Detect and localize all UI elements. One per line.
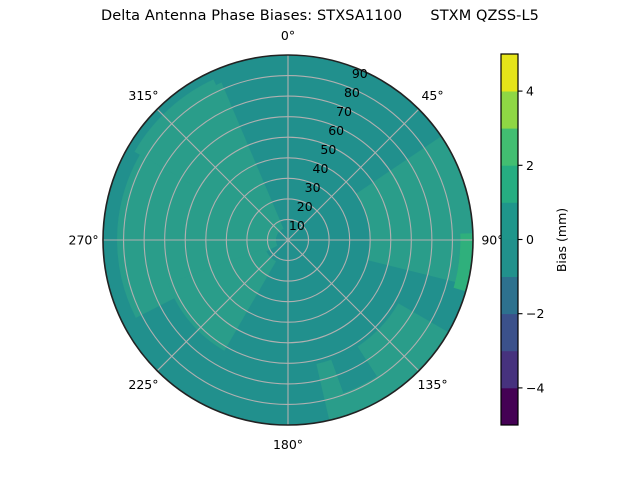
colorbar-band (501, 128, 518, 166)
zenith-tick-10: 10 (289, 218, 305, 233)
colorbar-bands (501, 54, 518, 425)
polar-grid (103, 55, 473, 425)
zenith-tick-50: 50 (320, 142, 336, 157)
colorbar-tick-label: 2 (526, 158, 534, 173)
colorbar-tick-label: 4 (526, 84, 534, 99)
colorbar-axis-label: Bias (mm) (554, 208, 569, 272)
zenith-tick-20: 20 (297, 199, 313, 214)
colorbar-band (501, 165, 518, 203)
polar-plot: 0°45°90°135°180°225°270°315° 10203040506… (0, 0, 640, 480)
colorbar-tick-label: −4 (526, 380, 544, 395)
colorbar: 420−2−4 Bias (mm) (501, 54, 569, 425)
colorbar-band (501, 277, 518, 315)
azimuth-tick-135: 135° (417, 377, 447, 392)
colorbar-band (501, 91, 518, 129)
colorbar-tick-label: −2 (526, 306, 544, 321)
colorbar-band (501, 54, 518, 92)
zenith-tick-80: 80 (344, 85, 360, 100)
azimuth-tick-270: 270° (69, 233, 99, 248)
azimuth-tick-90: 90° (481, 233, 503, 248)
zenith-tick-40: 40 (313, 161, 329, 176)
azimuth-tick-315: 315° (128, 88, 158, 103)
zenith-tick-90: 90 (352, 66, 368, 81)
colorbar-band (501, 314, 518, 352)
zenith-tick-70: 70 (336, 104, 352, 119)
azimuth-tick-0: 0° (281, 28, 295, 43)
colorbar-band (501, 202, 518, 240)
colorbar-band (501, 351, 518, 389)
colorbar-band (501, 240, 518, 278)
azimuth-tick-180: 180° (273, 437, 303, 452)
zenith-tick-30: 30 (305, 180, 321, 195)
colorbar-tick-label: 0 (526, 232, 534, 247)
colorbar-band (501, 388, 518, 426)
colorbar-tick-marks: 420−2−4 (518, 84, 544, 396)
azimuth-tick-45: 45° (421, 88, 443, 103)
azimuth-tick-225: 225° (128, 377, 158, 392)
zenith-tick-60: 60 (328, 123, 344, 138)
figure-canvas: Delta Antenna Phase Biases: STXSA1100 ST… (0, 0, 640, 480)
